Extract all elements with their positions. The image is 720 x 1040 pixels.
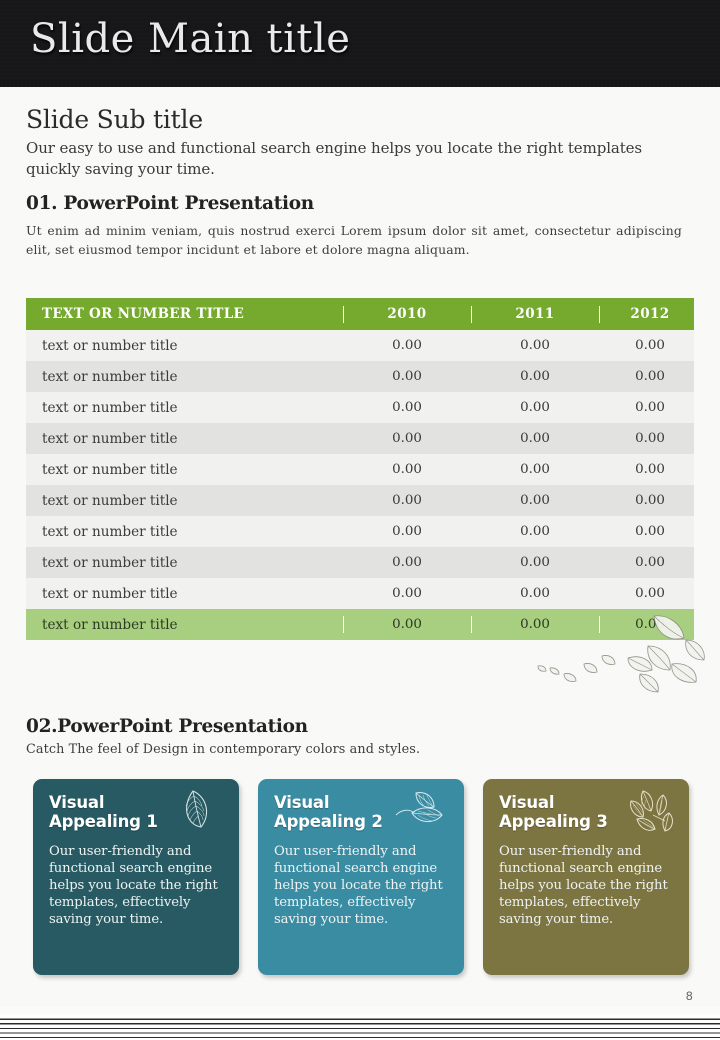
card-title-line2: Appealing 2: [274, 812, 383, 831]
cell-separator: [336, 454, 350, 485]
card-title-line2: Appealing 1: [49, 812, 158, 831]
cell-separator: [336, 516, 350, 547]
cell-separator: [464, 454, 478, 485]
card-title: Visual Appealing 3: [499, 793, 673, 831]
cell-2012: 0.00: [606, 547, 694, 578]
table-row[interactable]: text or number title 0.00 0.00 0.00: [26, 423, 694, 454]
card-title: Visual Appealing 1: [49, 793, 223, 831]
footer-stripes: [0, 1014, 720, 1040]
cell-separator: [592, 392, 606, 423]
cell-2010: 0.00: [350, 330, 464, 361]
cell-2012: 0.00: [606, 609, 694, 640]
cell-2010: 0.00: [350, 578, 464, 609]
section-01-body: Ut enim ad minim veniam, quis nostrud ex…: [26, 222, 682, 260]
card-description: Our user-friendly and functional search …: [49, 844, 223, 928]
cell-separator: [464, 392, 478, 423]
card-description: Our user-friendly and functional search …: [274, 844, 448, 928]
cell-separator: [336, 423, 350, 454]
cell-separator: [336, 485, 350, 516]
cell-2012: 0.00: [606, 454, 694, 485]
table-row[interactable]: text or number title 0.00 0.00 0.00: [26, 361, 694, 392]
cell-2010: 0.00: [350, 423, 464, 454]
card-visual-appealing-3[interactable]: Visual Appealing 3 Our user-friendly and…: [483, 779, 689, 975]
data-table: TEXT OR NUMBER TITLE 2010 2011 2012 text…: [26, 298, 694, 640]
table-row[interactable]: text or number title 0.00 0.00 0.00: [26, 578, 694, 609]
cell-separator: [592, 423, 606, 454]
cell-label: text or number title: [26, 609, 336, 640]
cell-separator: [464, 330, 478, 361]
cell-separator: [592, 485, 606, 516]
slide: Slide Main title Slide Sub title Our eas…: [0, 0, 720, 1040]
cell-2011: 0.00: [478, 516, 592, 547]
subtitle-block: Slide Sub title Our easy to use and func…: [26, 106, 666, 180]
cell-2011: 0.00: [478, 392, 592, 423]
header-separator: [592, 298, 606, 330]
cell-separator: [336, 609, 350, 640]
cell-separator: [592, 516, 606, 547]
cell-separator: [464, 485, 478, 516]
cell-2010: 0.00: [350, 516, 464, 547]
cell-separator: [592, 454, 606, 485]
section-01-heading: 01. PowerPoint Presentation: [26, 193, 686, 215]
cell-2010: 0.00: [350, 454, 464, 485]
page-title: Slide Main title: [30, 16, 350, 62]
cell-label: text or number title: [26, 392, 336, 423]
card-title-line1: Visual: [274, 793, 329, 812]
cell-2011: 0.00: [478, 547, 592, 578]
cell-2012: 0.00: [606, 423, 694, 454]
cell-2010: 0.00: [350, 485, 464, 516]
cell-2011: 0.00: [478, 423, 592, 454]
table-row[interactable]: text or number title 0.00 0.00 0.00: [26, 392, 694, 423]
header-separator: [464, 298, 478, 330]
cell-separator: [336, 330, 350, 361]
table-row[interactable]: text or number title 0.00 0.00 0.00: [26, 330, 694, 361]
cell-2010: 0.00: [350, 392, 464, 423]
cell-2011: 0.00: [478, 361, 592, 392]
table-header-row: TEXT OR NUMBER TITLE 2010 2011 2012: [26, 298, 694, 330]
card-title: Visual Appealing 2: [274, 793, 448, 831]
column-header-label: TEXT OR NUMBER TITLE: [26, 298, 336, 330]
cell-separator: [336, 547, 350, 578]
cell-2012: 0.00: [606, 361, 694, 392]
cell-separator: [592, 547, 606, 578]
cell-separator: [592, 578, 606, 609]
cell-separator: [464, 578, 478, 609]
cell-2012: 0.00: [606, 516, 694, 547]
table-row[interactable]: text or number title 0.00 0.00 0.00: [26, 454, 694, 485]
cell-label: text or number title: [26, 547, 336, 578]
column-header-2010: 2010: [350, 298, 464, 330]
cell-separator: [336, 392, 350, 423]
cell-2011: 0.00: [478, 330, 592, 361]
table-row[interactable]: text or number title 0.00 0.00 0.00: [26, 516, 694, 547]
cell-separator: [592, 330, 606, 361]
cell-separator: [336, 578, 350, 609]
cell-2011: 0.00: [478, 578, 592, 609]
slide-header-band: Slide Main title: [0, 0, 720, 87]
section-01: 01. PowerPoint Presentation Ut enim ad m…: [26, 193, 686, 260]
cell-2012: 0.00: [606, 330, 694, 361]
cell-separator: [336, 361, 350, 392]
section-02: 02.PowerPoint Presentation Catch The fee…: [26, 716, 686, 757]
section-02-heading: 02.PowerPoint Presentation: [26, 716, 686, 738]
cell-2012: 0.00: [606, 485, 694, 516]
header-separator: [336, 298, 350, 330]
cell-2012: 0.00: [606, 578, 694, 609]
card-title-line1: Visual: [499, 793, 554, 812]
section-02-subtext: Catch The feel of Design in contemporary…: [26, 742, 686, 757]
card-visual-appealing-1[interactable]: Visual Appealing 1 Our user-friendly and…: [33, 779, 239, 975]
cell-separator: [464, 516, 478, 547]
slide-subtitle: Slide Sub title: [26, 106, 666, 134]
card-title-line2: Appealing 3: [499, 812, 608, 831]
cell-separator: [592, 361, 606, 392]
cell-label: text or number title: [26, 578, 336, 609]
cell-2010: 0.00: [350, 547, 464, 578]
column-header-2012: 2012: [606, 298, 694, 330]
column-header-2011: 2011: [478, 298, 592, 330]
cell-separator: [464, 547, 478, 578]
cell-separator: [464, 361, 478, 392]
slide-subtitle-description: Our easy to use and functional search en…: [26, 138, 666, 181]
cell-label: text or number title: [26, 423, 336, 454]
cell-label: text or number title: [26, 361, 336, 392]
cell-separator: [592, 609, 606, 640]
cell-label: text or number title: [26, 454, 336, 485]
cell-2012: 0.00: [606, 392, 694, 423]
cell-separator: [464, 609, 478, 640]
card-visual-appealing-2[interactable]: Visual Appealing 2 Our user-friendly and…: [258, 779, 464, 975]
cell-label: text or number title: [26, 516, 336, 547]
card-title-line1: Visual: [49, 793, 104, 812]
table-row[interactable]: text or number title 0.00 0.00 0.00: [26, 547, 694, 578]
cell-separator: [464, 423, 478, 454]
cards-row: Visual Appealing 1 Our user-friendly and…: [33, 779, 689, 975]
cell-2011: 0.00: [478, 485, 592, 516]
page-number: 8: [686, 989, 693, 1003]
table-body: text or number title 0.00 0.00 0.00 text…: [26, 330, 694, 640]
cell-2010: 0.00: [350, 361, 464, 392]
cell-2010: 0.00: [350, 609, 464, 640]
cell-label: text or number title: [26, 330, 336, 361]
cell-2011: 0.00: [478, 454, 592, 485]
card-description: Our user-friendly and functional search …: [499, 844, 673, 928]
table-row-highlighted[interactable]: text or number title 0.00 0.00 0.00: [26, 609, 694, 640]
cell-label: text or number title: [26, 485, 336, 516]
cell-2011: 0.00: [478, 609, 592, 640]
table-row[interactable]: text or number title 0.00 0.00 0.00: [26, 485, 694, 516]
